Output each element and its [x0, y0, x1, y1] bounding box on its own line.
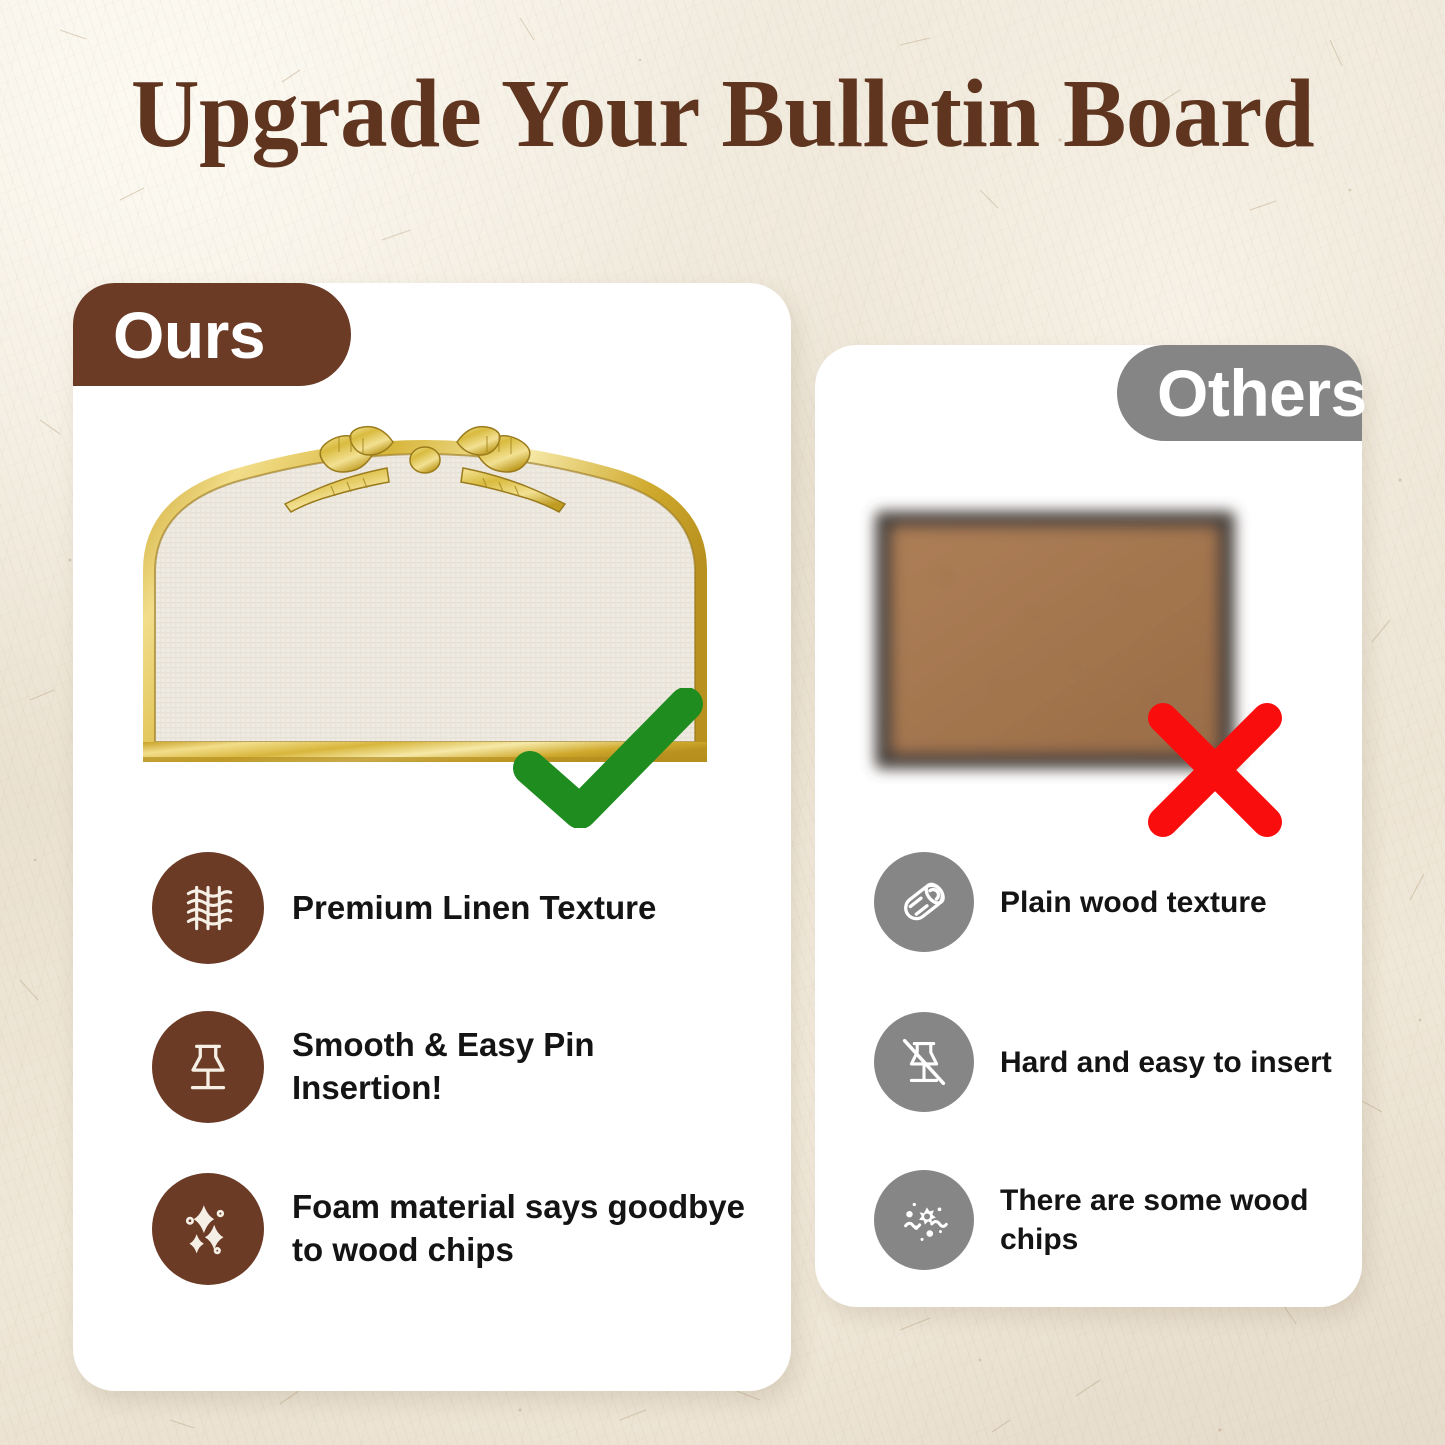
feature-row: Premium Linen Texture: [152, 852, 752, 964]
red-cross-icon: [1135, 690, 1295, 850]
ours-badge: Ours: [73, 283, 351, 386]
feature-row: Hard and easy to insert: [874, 1012, 1374, 1112]
feature-label-line1: Foam material says goodbye: [292, 1188, 745, 1225]
pushpin-crossed-out-icon: [874, 1012, 974, 1112]
others-badge: Others: [1117, 345, 1362, 441]
feature-label-line2: to wood chips: [292, 1231, 514, 1268]
feature-label: Foam material says goodbye to wood chips: [292, 1186, 745, 1272]
feature-label: Premium Linen Texture: [292, 887, 656, 930]
feature-label: Smooth & Easy Pin Insertion!: [292, 1024, 752, 1110]
feature-row: Smooth & Easy Pin Insertion!: [152, 1011, 752, 1123]
feature-row: There are some wood chips: [874, 1170, 1374, 1270]
feature-row: Plain wood texture: [874, 852, 1374, 952]
feature-row: Foam material says goodbye to wood chips: [152, 1173, 752, 1285]
feature-label: Plain wood texture: [1000, 883, 1267, 922]
feature-label: Hard and easy to insert: [1000, 1043, 1332, 1082]
others-feature-list: Plain wood texture Hard and easy to inse…: [874, 852, 1374, 1314]
feature-label: There are some wood chips: [1000, 1181, 1374, 1259]
linen-weave-icon: [152, 852, 264, 964]
page-title: Upgrade Your Bulletin Board: [22, 63, 1424, 166]
ours-badge-label: Ours: [113, 297, 265, 373]
sparkle-icon: [152, 1173, 264, 1285]
others-badge-label: Others: [1157, 355, 1367, 431]
pushpin-icon: [152, 1011, 264, 1123]
wood-chips-debris-icon: [874, 1170, 974, 1270]
wood-log-icon: [874, 852, 974, 952]
green-check-icon: [508, 688, 708, 828]
ours-feature-list: Premium Linen Texture Smooth & Easy Pin …: [152, 852, 752, 1329]
